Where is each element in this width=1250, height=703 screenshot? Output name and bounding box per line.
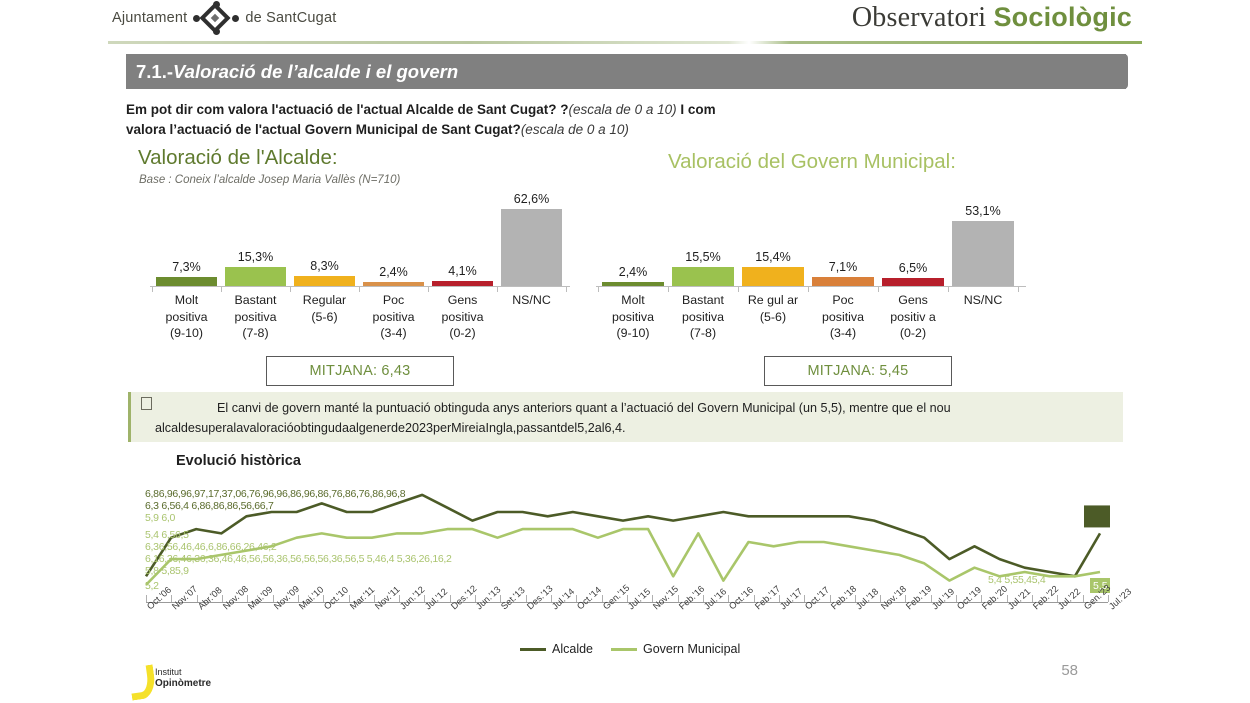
insight-callout: El canvi de govern manté la puntuació ob… — [128, 392, 1123, 442]
bar-value-label: 2,4% — [598, 265, 668, 279]
bar-value-label: 15,5% — [668, 250, 738, 264]
section-title-text: Valoració de l’alcalde i el govern — [173, 61, 458, 82]
bar-group[interactable]: 2,4%Pocpositiva(3-4) — [359, 200, 428, 350]
bar-group[interactable]: 7,1%Pocpositiva(3-4) — [808, 200, 878, 350]
bar[interactable] — [156, 277, 217, 286]
ajuntament-diamond-logo-icon — [193, 5, 239, 31]
bar-group[interactable]: 7,3%Moltpositiva(9-10) — [152, 200, 221, 350]
header-divider — [108, 41, 1142, 44]
data-label-row: 6,86,96,96,97,17,37,06,76,96,96,86,96,86… — [145, 488, 405, 500]
bar[interactable] — [294, 276, 355, 286]
page-title: 7.1.-Valoració de l’alcalde i el govern — [136, 61, 458, 83]
bar[interactable] — [363, 282, 424, 286]
callout-text: El canvi de govern manté la puntuació ob… — [155, 398, 1115, 438]
bar-group[interactable]: 15,3%Bastantpositiva(7-8) — [221, 200, 290, 350]
slide-page: Ajuntament de SantCugat Observatori Soci… — [0, 0, 1250, 703]
opinometre-label: Institut Opinòmetre — [155, 667, 211, 691]
bar-group[interactable]: 62,6%NS/NC — [497, 200, 566, 350]
evolution-x-labels: Oct.'06Nov.'07Abr.'08Nov.'08Mai.'09Nov.'… — [146, 604, 1108, 640]
ajuntament-prefix: Ajuntament — [112, 10, 187, 26]
data-label-row: 5,9 6,0 — [145, 512, 175, 524]
ajuntament-suffix: de SantCugat — [245, 10, 336, 26]
page-number: 58 — [1061, 662, 1078, 679]
data-label-row: 6,36,56,46,46,6,86,66,26,46,2 — [145, 541, 276, 553]
observatori-brand: Observatori Sociològic — [852, 2, 1132, 34]
legend-swatch — [520, 648, 546, 651]
bar[interactable] — [742, 267, 804, 286]
bar[interactable] — [952, 221, 1014, 286]
question-line2-scale: (escala de 0 a 10) — [521, 122, 629, 137]
question-line1-a: Em pot dir com valora l'actuació de l'ac… — [126, 102, 569, 117]
bar-group[interactable]: 53,1%NS/NC — [948, 200, 1018, 350]
bar-group[interactable]: 15,5%Bastantpositiva(7-8) — [668, 200, 738, 350]
bar-group[interactable]: 15,4%Re gul ar(5-6) — [738, 200, 808, 350]
bar-category-label: NS/NC — [942, 292, 1024, 309]
question-line1-b: I com — [677, 102, 716, 117]
data-label-row: 5,4 5,55,45,4 — [988, 574, 1045, 586]
alcalde-mean-box: MITJANA: 6,43 — [266, 356, 454, 386]
alcalde-bar-chart: 7,3%Moltpositiva(9-10)15,3%Bastantpositi… — [150, 200, 570, 350]
axis-tick — [566, 286, 567, 292]
bar-value-label: 15,4% — [738, 250, 808, 264]
bar[interactable] — [501, 209, 562, 286]
ajuntament-logo-block: Ajuntament de SantCugat — [112, 5, 336, 31]
legend-label: Alcalde — [552, 642, 593, 656]
bar[interactable] — [882, 278, 944, 286]
bar[interactable] — [672, 267, 734, 286]
question-line2-a: valora l’actuació de l'actual Govern Mun… — [126, 122, 521, 137]
bar-value-label: 4,1% — [428, 264, 497, 278]
alcalde-section-title: Valoració de l'Alcalde: — [138, 146, 338, 170]
bar[interactable] — [225, 267, 286, 286]
data-label-row: 5,8 5,85,9 — [145, 565, 189, 577]
brand-bold-text: Sociològic — [993, 2, 1132, 32]
legend-swatch — [611, 648, 637, 651]
legend-label: Govern Municipal — [643, 642, 740, 656]
govern-bar-chart: 2,4%Moltpositiva(9-10)15,5%Bastantpositi… — [596, 200, 1026, 350]
bar-value-label: 7,3% — [152, 260, 221, 274]
data-label-row: 5,4 6,56,5 — [145, 529, 189, 541]
bar-value-label: 62,6% — [497, 192, 566, 206]
data-label-row: 6,3 6,56,4 6,86,86,86,56,66,7 — [145, 500, 274, 512]
bar[interactable] — [602, 282, 664, 286]
bar-group[interactable]: 4,1%Genspositiva(0-2) — [428, 200, 497, 350]
opinometre-logo: Institut Opinòmetre — [130, 666, 211, 692]
bar[interactable] — [432, 281, 493, 286]
bar-group[interactable]: 8,3%Regular(5-6) — [290, 200, 359, 350]
alcalde-base-note: Base : Coneix l’alcalde Josep Maria Vall… — [139, 174, 400, 186]
legend-item[interactable]: Govern Municipal — [611, 642, 740, 656]
data-label-row: 5,2 — [145, 580, 159, 592]
bar-value-label: 53,1% — [948, 204, 1018, 218]
bar[interactable] — [812, 277, 874, 286]
bar-category-label: NS/NC — [491, 292, 572, 309]
section-number: 7.1.- — [136, 61, 173, 82]
callout-text-b: alcaldesuperalavaloracióobtingudaalgener… — [155, 421, 626, 435]
empty-square-bullet-icon — [141, 397, 152, 410]
govern-section-title: Valoració del Govern Municipal: — [668, 150, 956, 174]
institut-line1: Institut — [155, 667, 182, 677]
question-line1-scale: (escala de 0 a 10) — [569, 102, 677, 117]
legend-item[interactable]: Alcalde — [520, 642, 593, 656]
section-title-bar: 7.1.-Valoració de l’alcalde i el govern — [126, 54, 1126, 89]
evolution-chart-title: Evolució històrica — [176, 453, 301, 469]
callout-text-a: El canvi de govern manté la puntuació ob… — [217, 401, 951, 415]
question-text: Em pot dir com valora l'actuació de l'ac… — [126, 100, 886, 139]
bar-group[interactable]: 6,5%Genspositiv a(0-2) — [878, 200, 948, 350]
bar-value-label: 7,1% — [808, 260, 878, 274]
banana-logo-icon — [130, 666, 148, 692]
alcalde-end-marker — [1084, 505, 1110, 527]
institut-line2: Opinòmetre — [155, 678, 211, 689]
bar-value-label: 8,3% — [290, 259, 359, 273]
brand-light-text: Observatori — [852, 2, 986, 33]
bar-value-label: 6,5% — [878, 261, 948, 275]
govern-mean-box: MITJANA: 5,45 — [764, 356, 952, 386]
bar-value-label: 15,3% — [221, 250, 290, 264]
axis-tick — [1018, 286, 1019, 292]
page-header: Ajuntament de SantCugat Observatori Soci… — [0, 0, 1250, 45]
evolution-legend: AlcaldeGovern Municipal — [520, 640, 780, 658]
data-label-row: 6,16,36,46,36,36,46,46,56,56,36,56,56,56… — [145, 553, 452, 565]
bar-value-label: 2,4% — [359, 265, 428, 279]
bar-group[interactable]: 2,4%Moltpositiva(9-10) — [598, 200, 668, 350]
